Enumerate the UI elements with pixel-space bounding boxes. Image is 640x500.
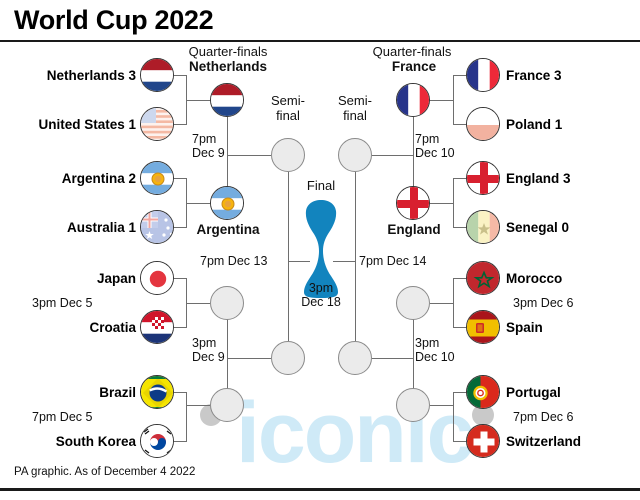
stage-label-semi-final-right: Semi- final [325, 93, 385, 123]
line-r3-h-out [430, 303, 454, 304]
line-l2-h-top [174, 178, 187, 179]
team-label-netherlands: Netherlands 3 [22, 68, 136, 83]
semi-final-left-placeholder-top [271, 138, 305, 172]
footer-divider [0, 488, 640, 491]
line-rsf-v2 [355, 261, 356, 341]
credit-line: PA graphic. As of December 4 2022 [14, 466, 195, 478]
line-r2-h-out [430, 203, 454, 204]
qf-winner-label-argentina: Argentina [182, 222, 274, 237]
stage-label-semi-final-left: Semi- final [258, 93, 318, 123]
sf-right-line2: final [325, 108, 385, 123]
qf-right-winner-1: France [392, 59, 436, 74]
flag-poland-r16 [466, 107, 500, 141]
semi-final-right-placeholder-top [338, 138, 372, 172]
flag-southkorea-r16 [140, 424, 174, 458]
qf-left-2-line2: Dec 9 [192, 350, 225, 364]
flag-australia-r16 [140, 210, 174, 244]
line-l1-h-top [174, 75, 187, 76]
line-rqf-top-h [372, 155, 414, 156]
qf-right-2-line1: 3pm [415, 336, 455, 350]
flag-morocco-r16 [466, 261, 500, 295]
qf-winner-label-france: France [368, 59, 460, 74]
stage-label-quarter-finals-left: Quarter-finals [186, 44, 270, 59]
line-l4-h-out [186, 405, 210, 406]
semi-final-left-placeholder-bottom [271, 341, 305, 375]
line-l4-v [186, 392, 187, 442]
qf-left-placeholder-4 [210, 388, 244, 422]
line-lqf-top-v [227, 117, 228, 187]
line-r3-h-bot [453, 327, 466, 328]
sf-left-line2: final [258, 108, 318, 123]
line-r4-h-out [430, 405, 454, 406]
flag-england-qf [396, 186, 430, 220]
qf-right-1-line2: Dec 10 [415, 146, 455, 160]
semi-final-right-placeholder-bottom [338, 341, 372, 375]
qf-left-2-line1: 3pm [192, 336, 225, 350]
qf-right-placeholder-3 [396, 286, 430, 320]
team-label-united-states: United States 1 [12, 117, 136, 132]
flag-spain-r16 [466, 310, 500, 344]
stage-label-final: Final [291, 178, 351, 193]
qf-left-1-line1: 7pm [192, 132, 225, 146]
semi-final-right-time: 7pm Dec 14 [359, 254, 426, 268]
qf-right-time-1: 7pm Dec 10 [415, 132, 455, 160]
team-label-argentina: Argentina 2 [26, 171, 136, 186]
final-text: Final [307, 178, 335, 193]
final-time: 3pm Dec 18 [291, 281, 351, 309]
flag-usa-r16 [140, 107, 174, 141]
line-r2-h-top [453, 178, 466, 179]
qf-left-winner-2: Argentina [196, 222, 259, 237]
line-r1-h-out [430, 100, 454, 101]
line-r1-h-top [453, 75, 466, 76]
qf-right-1-line1: 7pm [415, 132, 455, 146]
qf-left-1-line2: Dec 9 [192, 146, 225, 160]
flag-argentina-r16 [140, 161, 174, 195]
flag-japan-r16 [140, 261, 174, 295]
qf-winner-label-netherlands: Netherlands [182, 59, 274, 74]
line-r4-h-top [453, 392, 466, 393]
r16-right-time-portugal-switzerland: 7pm Dec 6 [513, 410, 573, 424]
line-lqf-bot-h [227, 358, 271, 359]
qf-right-text: Quarter-finals [373, 44, 452, 59]
qf-left-time-1: 7pm Dec 9 [192, 132, 225, 160]
header-divider [0, 40, 640, 42]
page-title: World Cup 2022 [14, 5, 213, 36]
line-l4-h-top [174, 392, 187, 393]
r16-left-time-brazil-korea: 7pm Dec 5 [32, 410, 92, 424]
stage-label-quarter-finals-right: Quarter-finals [370, 44, 454, 59]
flag-england-r16 [466, 161, 500, 195]
line-r4-v [453, 392, 454, 442]
team-label-japan: Japan [56, 271, 136, 286]
line-l1-h-out [186, 100, 210, 101]
team-label-poland: Poland 1 [506, 117, 562, 132]
line-l2-h-out [186, 203, 210, 204]
sf-left-line1: Semi- [258, 93, 318, 108]
flag-netherlands-r16 [140, 58, 174, 92]
team-label-portugal: Portugal [506, 385, 561, 400]
team-label-switzerland: Switzerland [506, 434, 581, 449]
r16-left-time-japan-croatia: 3pm Dec 5 [32, 296, 92, 310]
flag-france-qf [396, 83, 430, 117]
line-lqf-top-h [227, 155, 271, 156]
team-label-australia: Australia 1 [30, 220, 136, 235]
flag-croatia-r16 [140, 310, 174, 344]
line-l4-h-bot [174, 441, 187, 442]
flag-switzerland-r16 [466, 424, 500, 458]
flag-argentina-qf [210, 186, 244, 220]
line-r1-h-bot [453, 124, 466, 125]
flag-france-r16 [466, 58, 500, 92]
semi-final-left-time: 7pm Dec 13 [200, 254, 267, 268]
qf-winner-label-england: England [368, 222, 460, 237]
line-rsf-v [355, 172, 356, 261]
line-l1-h-bot [174, 124, 187, 125]
line-r4-h-bot [453, 441, 466, 442]
flag-netherlands-qf [210, 83, 244, 117]
infographic-canvas: iconic World Cup 2022 PA graphic. As of … [0, 0, 640, 500]
r16-right-time-morocco-spain: 3pm Dec 6 [513, 296, 573, 310]
line-r3-h-top [453, 278, 466, 279]
qf-left-time-2: 3pm Dec 9 [192, 336, 225, 364]
team-label-south-korea: South Korea [20, 434, 136, 449]
team-label-croatia: Croatia [46, 320, 136, 335]
team-label-senegal: Senegal 0 [506, 220, 569, 235]
flag-senegal-r16 [466, 210, 500, 244]
line-lsf-v [288, 172, 289, 261]
line-l3-h-top [174, 278, 187, 279]
final-time-line2: Dec 18 [291, 295, 351, 309]
line-l3-h-out [186, 303, 210, 304]
line-l3-h-bot [174, 327, 187, 328]
team-label-spain: Spain [506, 320, 543, 335]
qf-right-winner-2: England [387, 222, 440, 237]
final-time-line1: 3pm [291, 281, 351, 295]
team-label-france: France 3 [506, 68, 562, 83]
flag-portugal-r16 [466, 375, 500, 409]
team-label-brazil: Brazil [56, 385, 136, 400]
flag-brazil-r16 [140, 375, 174, 409]
qf-right-time-2: 3pm Dec 10 [415, 336, 455, 364]
line-rqf-bot-h [372, 358, 414, 359]
watermark-text: iconic [236, 390, 473, 476]
qf-right-placeholder-4 [396, 388, 430, 422]
team-label-morocco: Morocco [506, 271, 562, 286]
qf-right-2-line2: Dec 10 [415, 350, 455, 364]
qf-left-winner-1: Netherlands [189, 59, 267, 74]
qf-left-placeholder-3 [210, 286, 244, 320]
team-label-england: England 3 [506, 171, 571, 186]
line-lsf-v2 [288, 261, 289, 341]
qf-left-text: Quarter-finals [189, 44, 268, 59]
sf-right-line1: Semi- [325, 93, 385, 108]
